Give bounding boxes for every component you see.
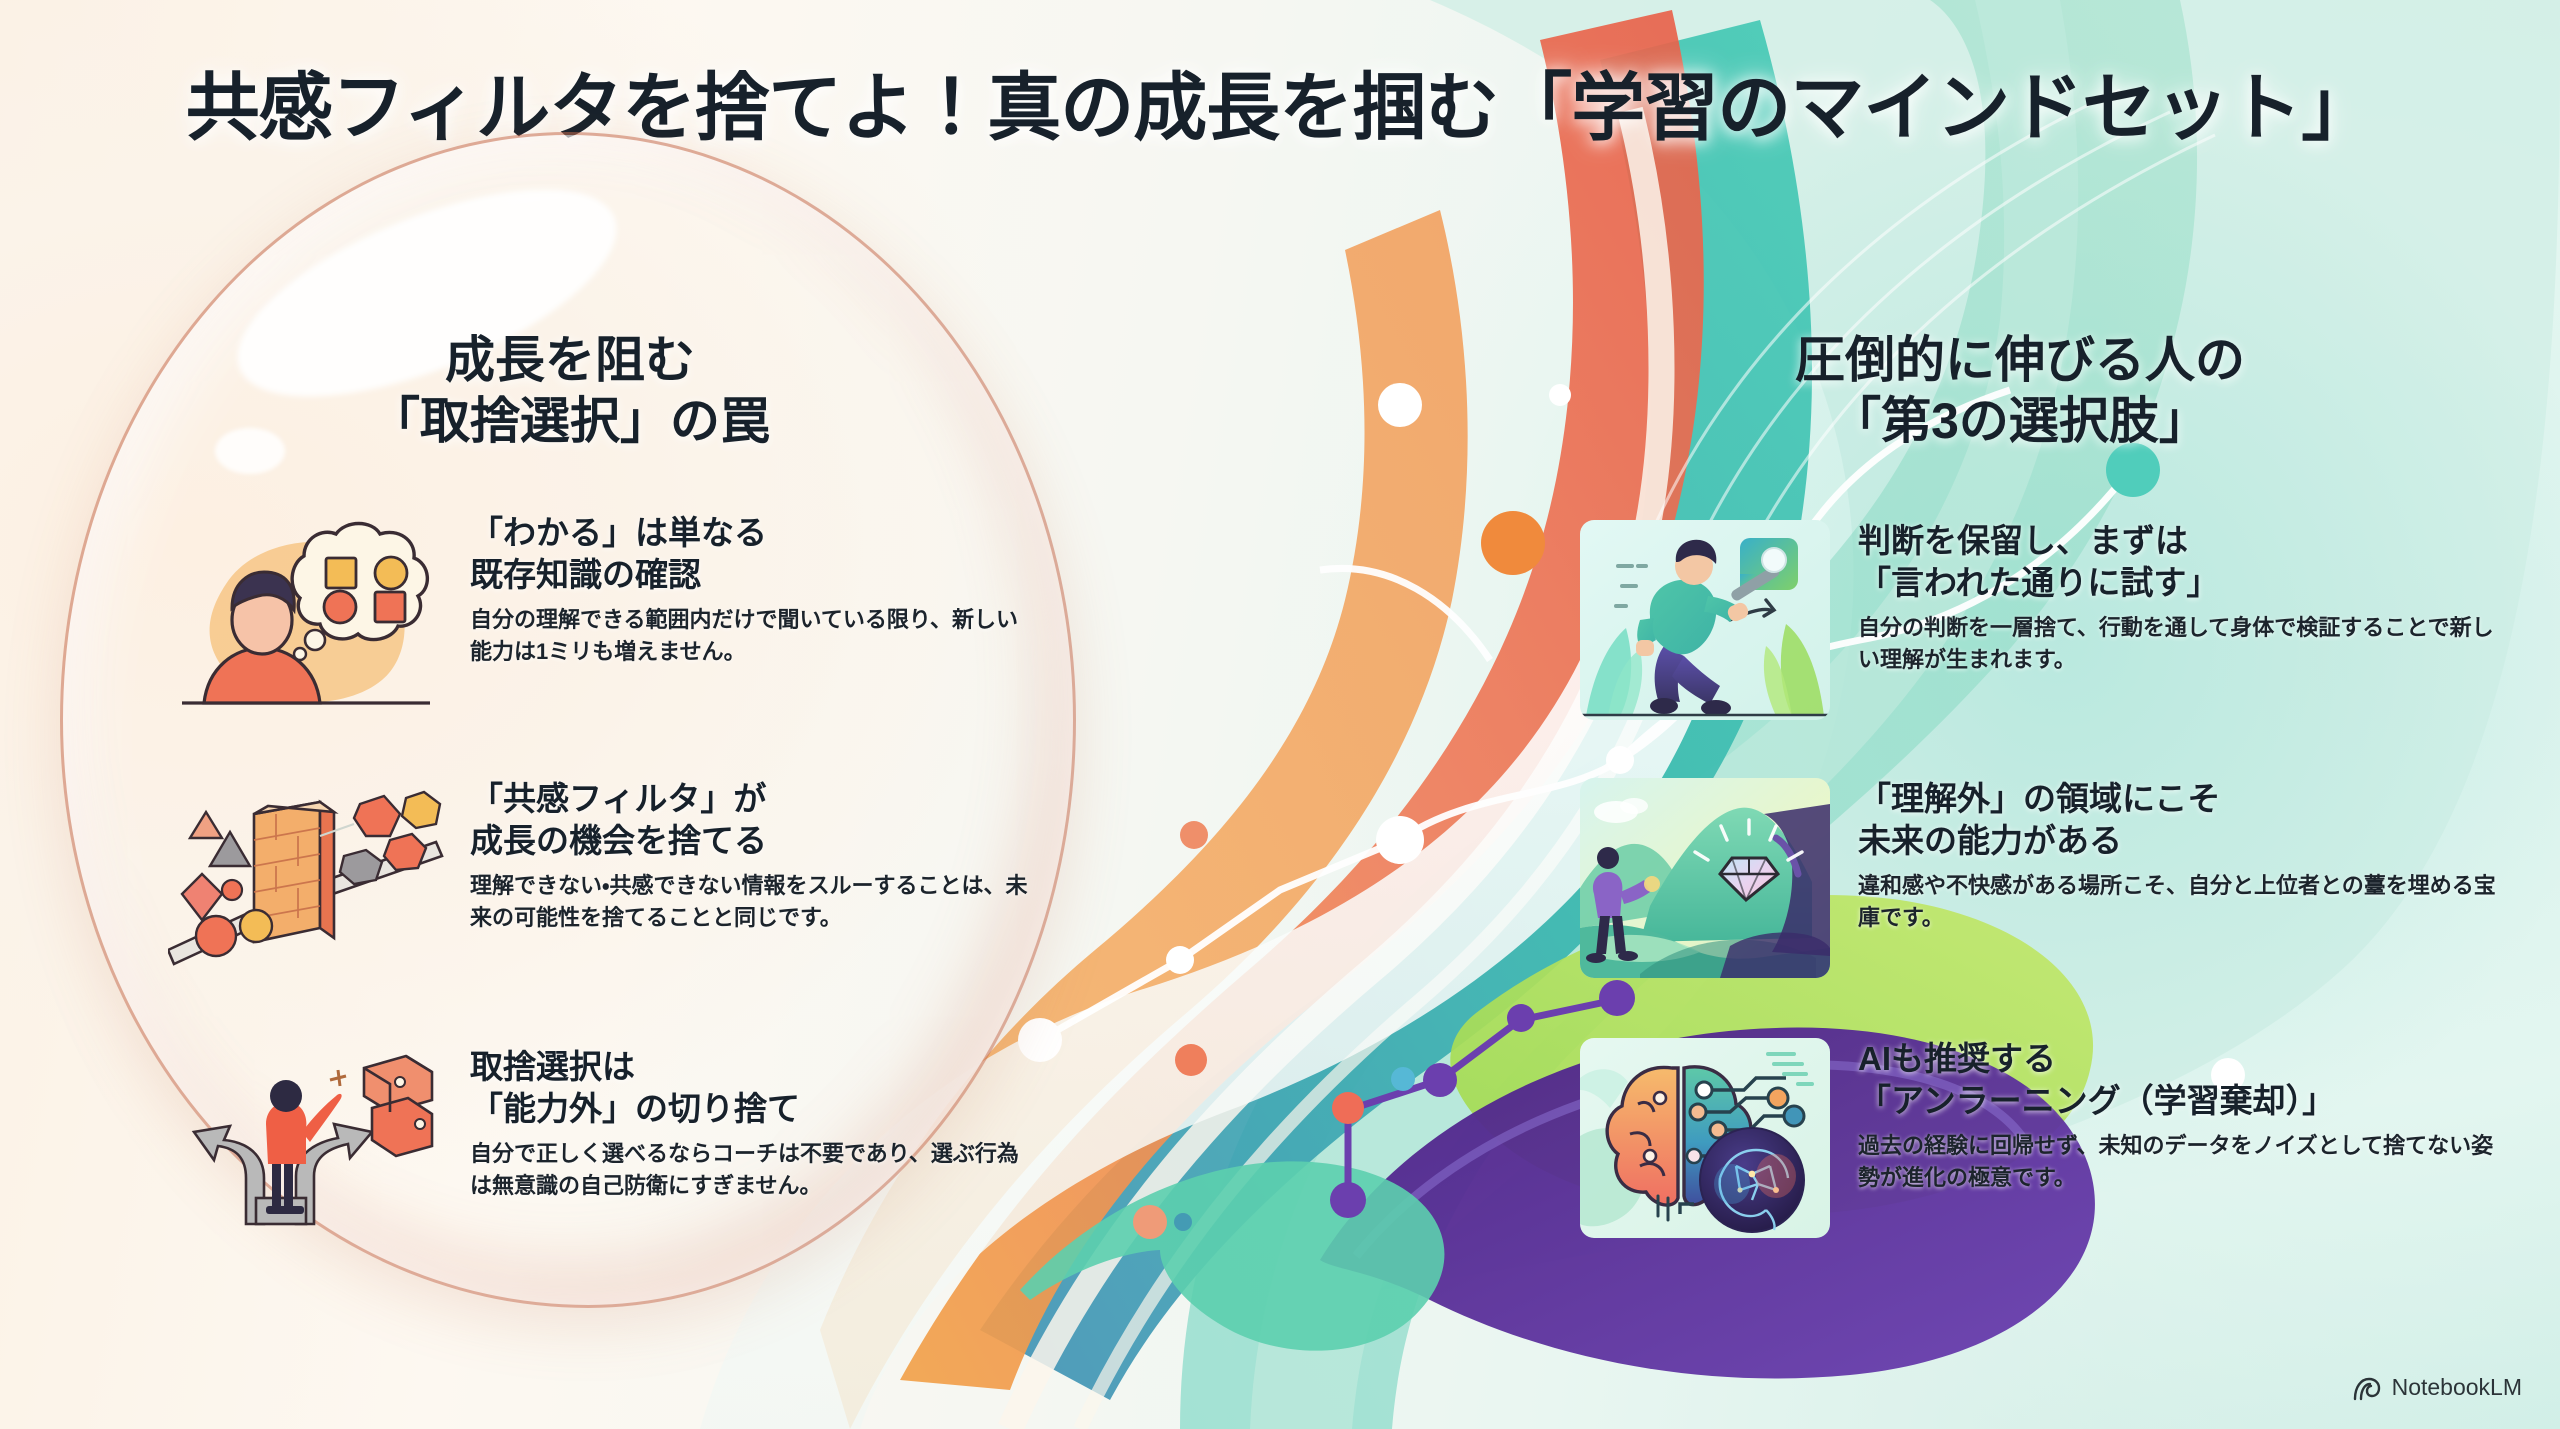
person-thought-bubble-shapes-icon — [168, 512, 448, 732]
left-column-heading: 成長を阻む 「取捨選択」の罠 — [260, 330, 880, 452]
right-item-2-body: 違和感や不快感がある場所こそ、自分と上位者との薹を埋める宝庫です。 — [1858, 870, 2498, 932]
right-item-1-heading-line1: 判断を保留し、まずは — [1858, 520, 2498, 562]
right-item-2-heading-line1: 「理解外」の領域にこそ — [1858, 778, 2498, 820]
right-item-1-text: 判断を保留し、まずは 「言われた通りに試す」 自分の判断を一層捨て、行動を通して… — [1858, 520, 2498, 675]
right-item-2-heading-line2: 未来の能力がある — [1858, 820, 2498, 862]
notebooklm-logo-icon — [2352, 1375, 2382, 1401]
right-item-3-heading-line1: AIも推奨する — [1858, 1038, 2498, 1080]
left-item-1-heading-line2: 既存知識の確認 — [470, 554, 1030, 596]
right-item-1-heading-line2: 「言われた通りに試す」 — [1858, 562, 2498, 604]
left-item-3-heading-line1: 取捨選択は — [470, 1046, 1030, 1088]
infographic-canvas: 共感フィルタを捨てよ！真の成長を掴む「学習のマインドセット」 成長を阻む 「取捨… — [0, 0, 2560, 1429]
left-item-3-text: 取捨選択は 「能力外」の切り捨て 自分で正しく選べるならコーチは不要であり、選ぶ… — [470, 1046, 1030, 1201]
page-title: 共感フィルタを捨てよ！真の成長を掴む「学習のマインドセット」 — [0, 48, 2560, 155]
person-crossroads-arrows-icon — [168, 1046, 448, 1266]
right-item-3-body: 過去の経験に回帰せず、未知のデータをノイズとして捨てない姿勢が進化の極意です。 — [1858, 1130, 2498, 1192]
left-item-3-heading-line2: 「能力外」の切り捨て — [470, 1088, 1030, 1130]
left-item-3: 取捨選択は 「能力外」の切り捨て 自分で正しく選べるならコーチは不要であり、選ぶ… — [168, 1046, 1068, 1266]
brick-wall-filter-shapes-icon — [168, 778, 448, 998]
left-item-3-body: 自分で正しく選べるならコーチは不要であり、選ぶ行為は無意識の自己防衛にすぎません… — [470, 1138, 1030, 1200]
right-item-3: AIも推奨する 「アンラーニング（学習棄却）」 過去の経験に回帰せず、未知のデー… — [1580, 1038, 2540, 1238]
left-item-2-body: 理解できない・共感できない情報をスルーすることは、未来の可能性を捨てることと同じ… — [470, 870, 1030, 932]
right-item-1: 判断を保留し、まずは 「言われた通りに試す」 自分の判断を一層捨て、行動を通して… — [1580, 520, 2540, 720]
right-heading-line1: 圧倒的に伸びる人の — [1680, 330, 2360, 391]
left-item-1-text: 「わかる」は単なる 既存知識の確認 自分の理解できる範囲内だけで聞いている限り、… — [470, 512, 1030, 667]
left-item-1-body: 自分の理解できる範囲内だけで聞いている限り、新しい能力は1ミリも増えません。 — [470, 604, 1030, 666]
left-heading-line2: 「取捨選択」の罠 — [260, 391, 880, 452]
left-heading-line1: 成長を阻む — [260, 330, 880, 391]
notebooklm-watermark: NotebookLM — [2352, 1374, 2522, 1401]
ai-brain-circuit-icon — [1580, 1038, 1830, 1238]
person-pushing-lever-switch-icon — [1580, 520, 1830, 720]
left-item-1: 「わかる」は単なる 既存知識の確認 自分の理解できる範囲内だけで聞いている限り、… — [168, 512, 1068, 732]
left-item-2-text: 「共感フィルタ」が 成長の機会を捨てる 理解できない・共感できない情報をスルーす… — [470, 778, 1030, 933]
right-heading-line2: 「第3の選択肢」 — [1680, 391, 2360, 452]
person-landscape-glowing-gem-icon — [1580, 778, 1830, 978]
left-item-2-heading-line1: 「共感フィルタ」が — [470, 778, 1030, 820]
right-item-3-heading-line2: 「アンラーニング（学習棄却）」 — [1858, 1080, 2498, 1122]
right-item-2: 「理解外」の領域にこそ 未来の能力がある 違和感や不快感がある場所こそ、自分と上… — [1580, 778, 2540, 978]
left-item-1-heading-line1: 「わかる」は単なる — [470, 512, 1030, 554]
notebooklm-label: NotebookLM — [2392, 1374, 2522, 1401]
left-item-2: 「共感フィルタ」が 成長の機会を捨てる 理解できない・共感できない情報をスルーす… — [168, 778, 1068, 998]
right-item-3-text: AIも推奨する 「アンラーニング（学習棄却）」 過去の経験に回帰せず、未知のデー… — [1858, 1038, 2498, 1193]
right-column-heading: 圧倒的に伸びる人の 「第3の選択肢」 — [1680, 330, 2360, 452]
right-item-2-text: 「理解外」の領域にこそ 未来の能力がある 違和感や不快感がある場所こそ、自分と上… — [1858, 778, 2498, 933]
right-item-1-body: 自分の判断を一層捨て、行動を通して身体で検証することで新しい理解が生まれます。 — [1858, 612, 2498, 674]
left-item-2-heading-line2: 成長の機会を捨てる — [470, 820, 1030, 862]
